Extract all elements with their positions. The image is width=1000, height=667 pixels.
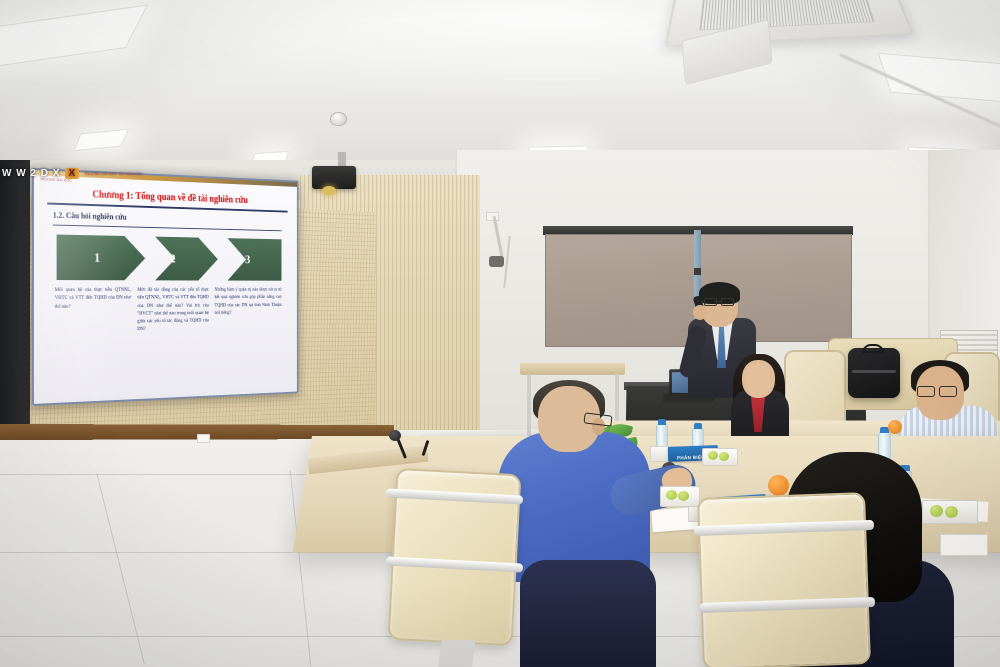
orange-fruit (768, 475, 789, 496)
bottle-cap (694, 423, 702, 429)
fruit-piece (719, 452, 729, 461)
glasses-bridge (716, 301, 722, 302)
fruit-piece (945, 506, 958, 518)
slide-divider (53, 225, 282, 232)
side-table (520, 363, 625, 375)
fruit-piece (930, 505, 943, 517)
slide-column-1: Mối quan hệ của thực tiễn QTNNL, VHTC và… (55, 286, 131, 335)
roller-blind[interactable] (545, 234, 697, 347)
table-leg (527, 374, 531, 440)
slide-column-2: Mức độ tác động của các yếu tố thực tiễn… (137, 286, 208, 333)
watermark-badge: X (65, 168, 79, 179)
microphone-head[interactable] (389, 430, 401, 441)
orange-fruit (888, 420, 902, 434)
office-chair-front-right[interactable] (697, 492, 871, 667)
fruit-piece (678, 491, 689, 501)
watermark: W W 2 D X X TRUONG DAI HOC TAY NGUYEN (2, 168, 142, 179)
backpack-zipper (852, 370, 896, 373)
glasses-icon (939, 386, 957, 397)
slide-text-columns: Mối quan hệ của thực tiễn QTNNL, VHTC và… (55, 286, 283, 335)
slide-chevron-row: 1 2 3 (57, 235, 282, 281)
presentation-slide: TRUONG DAI HOC Chương 1: Tổng quan về đề… (32, 168, 298, 406)
projection-screen: TRUONG DAI HOC Chương 1: Tổng quan về đề… (32, 168, 298, 406)
smoke-detector-icon (330, 112, 347, 126)
slide-chevron-3: 3 (208, 238, 282, 281)
attendee-face (745, 364, 771, 395)
watermark-tail: TRUONG DAI HOC TAY NGUYEN (84, 172, 142, 176)
slide-chevron-2: 2 (135, 236, 218, 280)
glasses-icon (721, 298, 734, 306)
presenter-hand (693, 305, 707, 320)
slide-column-3: Những hàm ý quản trị nào được rút ra từ … (215, 286, 282, 332)
chevron-number: 2 (170, 251, 176, 266)
projector-lens-icon (322, 186, 336, 195)
slide-subtitle: 1.2. Câu hỏi nghiên cứu (53, 211, 127, 222)
chair-leg (438, 640, 476, 667)
glasses-icon (917, 386, 935, 397)
fruit-piece (708, 451, 718, 460)
security-camera-icon (489, 256, 504, 267)
chevron-number: 1 (94, 250, 100, 266)
backpack-handle (862, 344, 884, 353)
tissue-box (940, 534, 988, 556)
committee-member-lap (520, 560, 656, 667)
fruit-piece (666, 490, 677, 500)
bottle-cap (658, 419, 666, 425)
slide-chevron-1: 1 (57, 235, 146, 281)
backpack (848, 348, 900, 398)
ceiling-projector[interactable] (312, 166, 356, 189)
conference-room-photo: TRUONG DAI HOC Chương 1: Tổng quan về đề… (0, 0, 1000, 667)
chevron-number: 3 (245, 252, 250, 267)
watermark-letters: W W 2 D X (2, 168, 60, 179)
power-outlet[interactable] (197, 434, 210, 443)
